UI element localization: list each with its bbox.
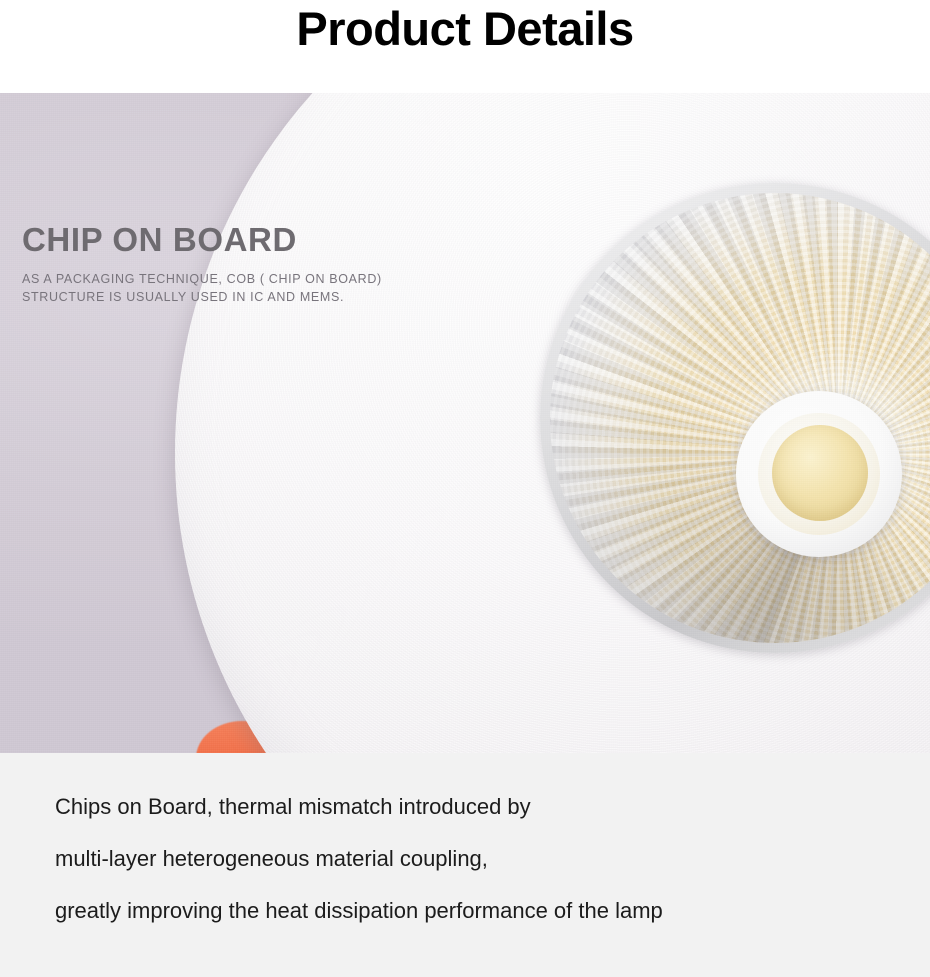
caption-line: multi-layer heterogeneous material coupl… (55, 833, 663, 885)
reflector-assembly (540, 183, 930, 653)
product-details-page: Product Details CHIP ON BOARD AS A PAC (0, 0, 930, 977)
cob-chip-core (772, 425, 868, 521)
page-title: Product Details (296, 5, 633, 52)
caption-band: Chips on Board, thermal mismatch introdu… (0, 753, 930, 977)
cob-subtitle-line-2: STRUCTURE IS USUALLY USED IN IC AND MEMS… (22, 288, 402, 306)
cob-chip-holder (736, 391, 902, 557)
page-title-band: Product Details (0, 0, 930, 93)
product-hero-image: CHIP ON BOARD AS A PACKAGING TECHNIQUE, … (0, 93, 930, 753)
cob-subtitle-line-1: AS A PACKAGING TECHNIQUE, COB ( CHIP ON … (22, 270, 402, 288)
cob-chip-ring (758, 413, 880, 535)
hero-text-overlay: CHIP ON BOARD AS A PACKAGING TECHNIQUE, … (22, 223, 402, 306)
caption-line: greatly improving the heat dissipation p… (55, 885, 663, 937)
caption-line: Chips on Board, thermal mismatch introdu… (55, 781, 663, 833)
caption-text-block: Chips on Board, thermal mismatch introdu… (55, 781, 663, 937)
cob-heading: CHIP ON BOARD (22, 223, 402, 256)
